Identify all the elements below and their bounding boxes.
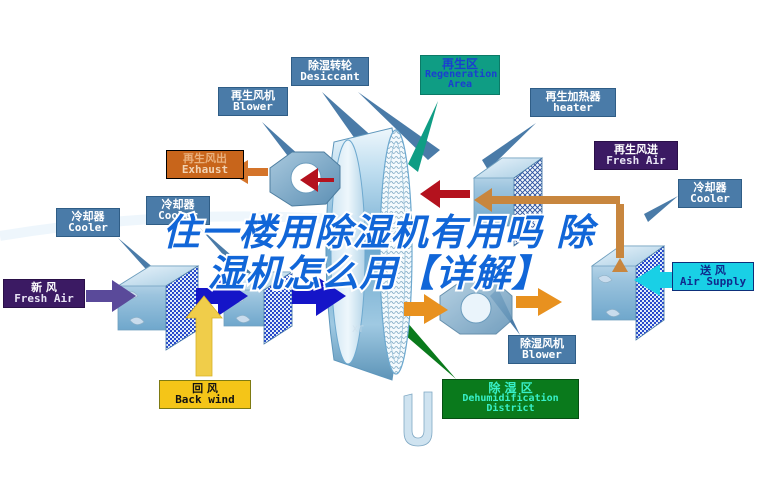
label-en: Dehumidification District (447, 394, 574, 414)
overlay-title-line-2: 湿机怎么用【详解】 (0, 253, 757, 294)
label-en: Fresh Air (599, 155, 673, 166)
label-dehumidification-district[interactable]: 除 湿 区 Dehumidification District (442, 379, 579, 419)
label-regeneration-fresh-air-in[interactable]: 再生风进 Fresh Air (594, 141, 678, 170)
label-en: heater (535, 102, 611, 113)
label-en: Desiccant (296, 71, 364, 82)
label-back-wind[interactable]: 回 风 Back wind (159, 380, 251, 409)
label-cooler-right[interactable]: 冷却器 Cooler (678, 179, 742, 208)
label-en: Fresh Air (8, 293, 80, 304)
label-en: Back wind (164, 394, 246, 405)
label-en: Regeneration Area (425, 70, 495, 90)
label-exhaust[interactable]: 再生风出 Exhaust (166, 150, 244, 179)
label-en: Cooler (683, 193, 737, 204)
label-regeneration-blower[interactable]: 再生风机 Blower (218, 87, 288, 116)
label-regeneration-area[interactable]: 再生区 Regeneration Area (420, 55, 500, 95)
overlay-title: 住一楼用除湿机有用吗 除 湿机怎么用【详解】 (0, 212, 757, 295)
label-desiccant-wheel[interactable]: 除湿转轮 Desiccant (291, 57, 369, 86)
label-en: Blower (513, 349, 571, 360)
svg-text:XT: XT (352, 325, 364, 335)
label-en: Exhaust (171, 164, 239, 175)
label-dehumidification-blower[interactable]: 除湿风机 Blower (508, 335, 576, 364)
label-regeneration-heater[interactable]: 再生加热器 heater (530, 88, 616, 117)
label-en: Blower (223, 101, 283, 112)
diagram-canvas: XT (0, 0, 757, 488)
overlay-title-line-1: 住一楼用除湿机有用吗 除 (0, 212, 757, 253)
